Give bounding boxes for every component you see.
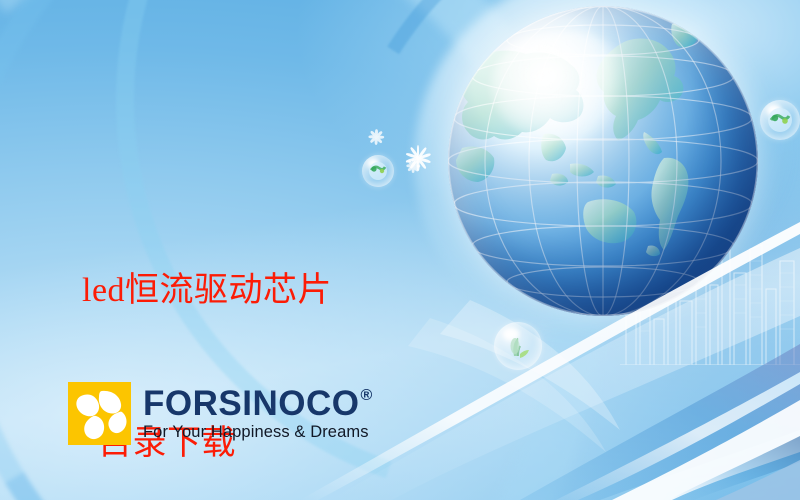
- brand-name: FORSINOCO ®: [143, 386, 373, 421]
- bubble-with-sprout: [494, 322, 542, 370]
- daisy-sprite-upper: [368, 128, 385, 145]
- bubble-with-globe-right: [760, 100, 800, 140]
- globe-rim-light: [448, 6, 758, 316]
- banner-canvas: led恒流驱动芯片 目录下载 FORSINOCO ® For Your Happ…: [0, 0, 800, 500]
- daisy-sprite-right: [406, 158, 421, 173]
- headline-line-1: led恒流驱动芯片: [82, 265, 332, 316]
- logo-wordmark: FORSINOCO ® For Your Happiness & Dreams: [143, 386, 373, 441]
- headline-text: led恒流驱动芯片 目录下载: [82, 163, 332, 500]
- globe-sphere: [448, 6, 758, 316]
- brand-name-text: FORSINOCO: [143, 386, 359, 421]
- forsinoco-pinwheel-mark: [68, 382, 131, 445]
- forsinoco-logo[interactable]: FORSINOCO ® For Your Happiness & Dreams: [68, 382, 373, 445]
- earth-globe-illustration: [448, 6, 758, 316]
- registered-trademark-icon: ®: [360, 388, 372, 404]
- bubble-with-globe-small: [362, 155, 394, 187]
- brand-tagline: For Your Happiness & Dreams: [143, 424, 373, 441]
